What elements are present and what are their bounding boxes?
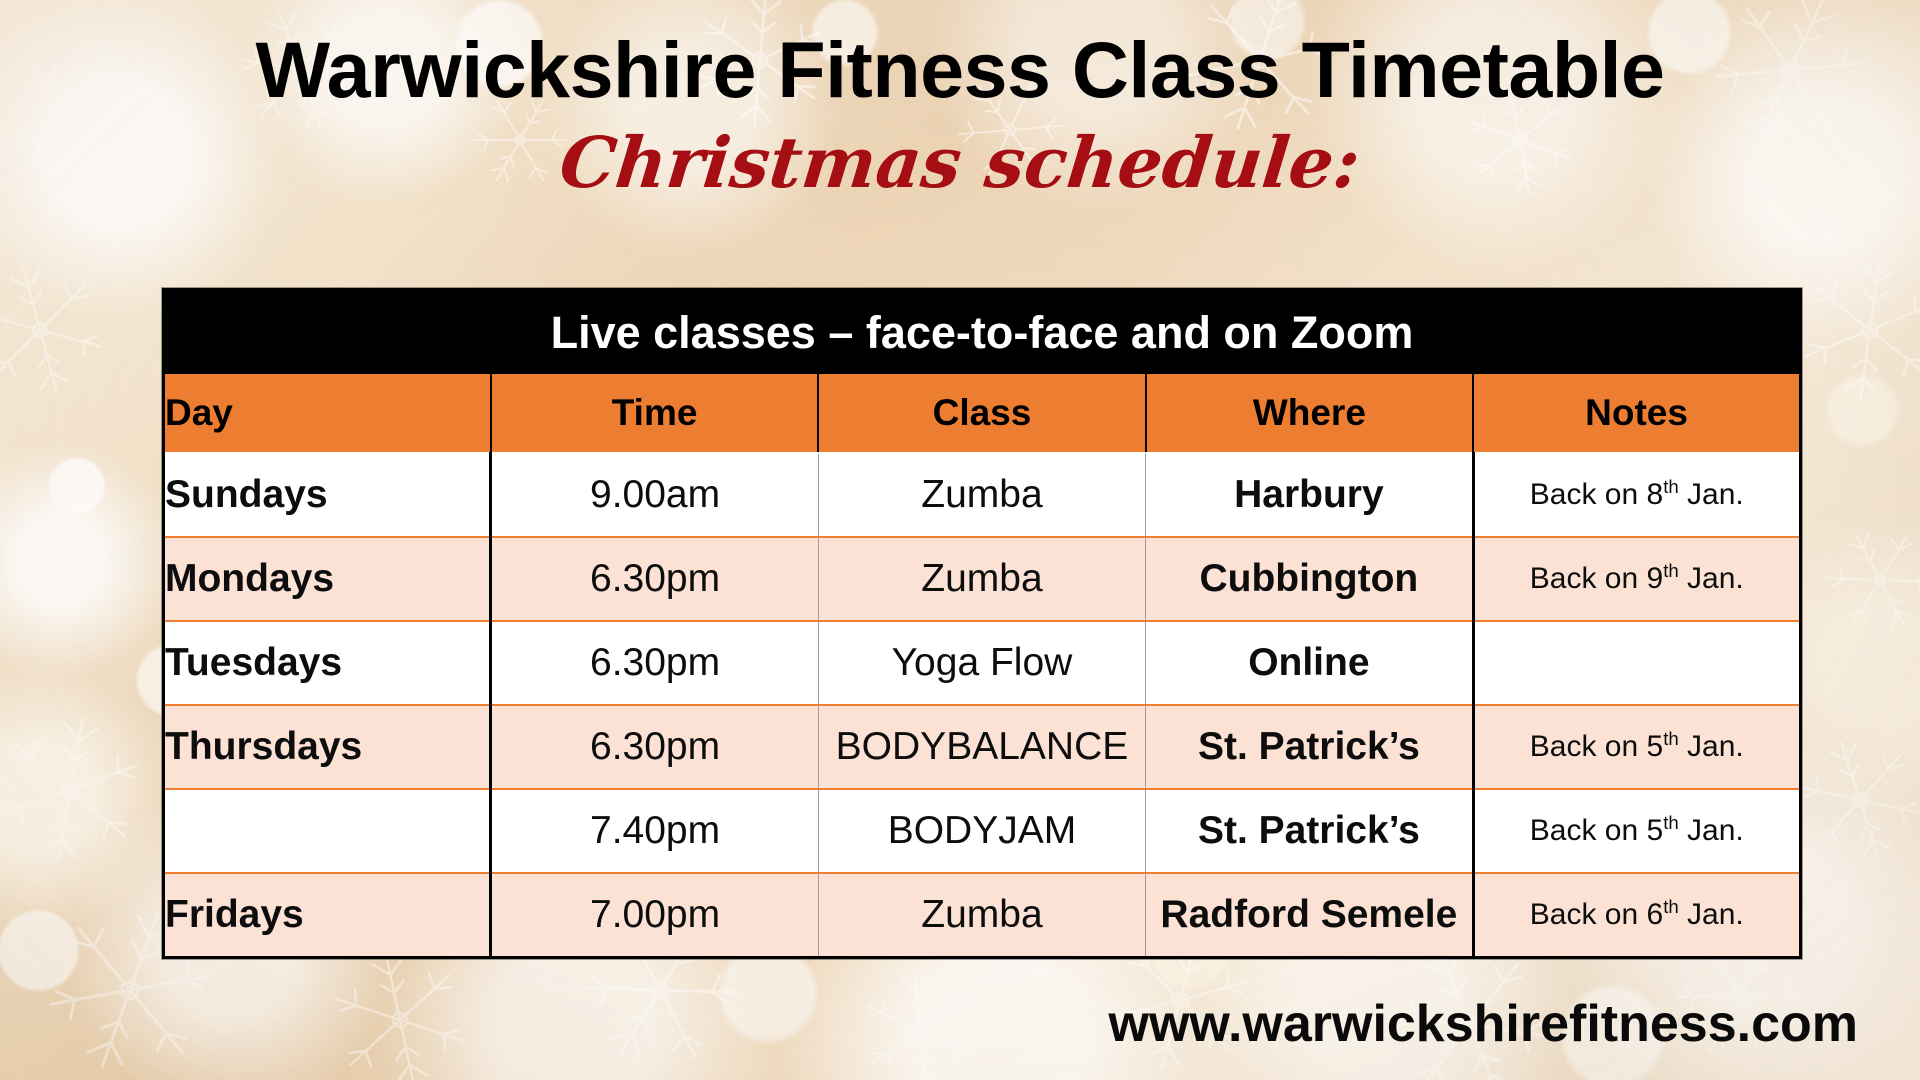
cell-class: Zumba bbox=[818, 453, 1145, 537]
cell-class: BODYJAM bbox=[818, 789, 1145, 873]
cell-day bbox=[164, 789, 491, 873]
cell-time: 9.00am bbox=[491, 453, 818, 537]
table-banner-row: Live classes – face-to-face and on Zoom bbox=[164, 290, 1801, 375]
cell-notes: Back on 8th Jan. bbox=[1473, 453, 1800, 537]
table-row: Tuesdays 6.30pm Yoga Flow Online bbox=[164, 621, 1801, 705]
cell-where: Cubbington bbox=[1146, 537, 1473, 621]
cell-where: Online bbox=[1146, 621, 1473, 705]
cell-day: Tuesdays bbox=[164, 621, 491, 705]
page-subtitle: Christmas schedule: bbox=[0, 128, 1920, 198]
table-row: Mondays 6.30pm Zumba Cubbington Back on … bbox=[164, 537, 1801, 621]
table-header-row: Day Time Class Where Notes bbox=[164, 374, 1801, 453]
cell-class: Yoga Flow bbox=[818, 621, 1145, 705]
cell-time: 6.30pm bbox=[491, 537, 818, 621]
page-title: Warwickshire Fitness Class Timetable bbox=[0, 30, 1920, 109]
table-row: Thursdays 6.30pm BODYBALANCE St. Patrick… bbox=[164, 705, 1801, 789]
cell-day: Thursdays bbox=[164, 705, 491, 789]
cell-notes bbox=[1473, 621, 1800, 705]
cell-day: Fridays bbox=[164, 873, 491, 958]
table-row: Sundays 9.00am Zumba Harbury Back on 8th… bbox=[164, 453, 1801, 537]
cell-class: Zumba bbox=[818, 537, 1145, 621]
table-row: Fridays 7.00pm Zumba Radford Semele Back… bbox=[164, 873, 1801, 958]
column-header-time: Time bbox=[491, 374, 818, 453]
column-header-notes: Notes bbox=[1473, 374, 1800, 453]
column-header-day: Day bbox=[164, 374, 491, 453]
cell-where: Harbury bbox=[1146, 453, 1473, 537]
website-url[interactable]: www.warwickshirefitness.com bbox=[1109, 994, 1858, 1054]
table-banner-title: Live classes – face-to-face and on Zoom bbox=[164, 290, 1801, 375]
poster-content: Warwickshire Fitness Class Timetable Chr… bbox=[0, 0, 1920, 1080]
cell-notes: Back on 5th Jan. bbox=[1473, 789, 1800, 873]
cell-notes: Back on 9th Jan. bbox=[1473, 537, 1800, 621]
cell-notes: Back on 6th Jan. bbox=[1473, 873, 1800, 958]
cell-time: 7.00pm bbox=[491, 873, 818, 958]
cell-class: Zumba bbox=[818, 873, 1145, 958]
column-header-class: Class bbox=[818, 374, 1145, 453]
cell-day: Mondays bbox=[164, 537, 491, 621]
cell-notes: Back on 5th Jan. bbox=[1473, 705, 1800, 789]
table-row: 7.40pm BODYJAM St. Patrick’s Back on 5th… bbox=[164, 789, 1801, 873]
cell-where: St. Patrick’s bbox=[1146, 789, 1473, 873]
class-timetable: Live classes – face-to-face and on Zoom … bbox=[162, 288, 1802, 959]
column-header-where: Where bbox=[1146, 374, 1473, 453]
cell-time: 7.40pm bbox=[491, 789, 818, 873]
cell-where: St. Patrick’s bbox=[1146, 705, 1473, 789]
cell-time: 6.30pm bbox=[491, 705, 818, 789]
cell-time: 6.30pm bbox=[491, 621, 818, 705]
cell-day: Sundays bbox=[164, 453, 491, 537]
cell-class: BODYBALANCE bbox=[818, 705, 1145, 789]
cell-where: Radford Semele bbox=[1146, 873, 1473, 958]
